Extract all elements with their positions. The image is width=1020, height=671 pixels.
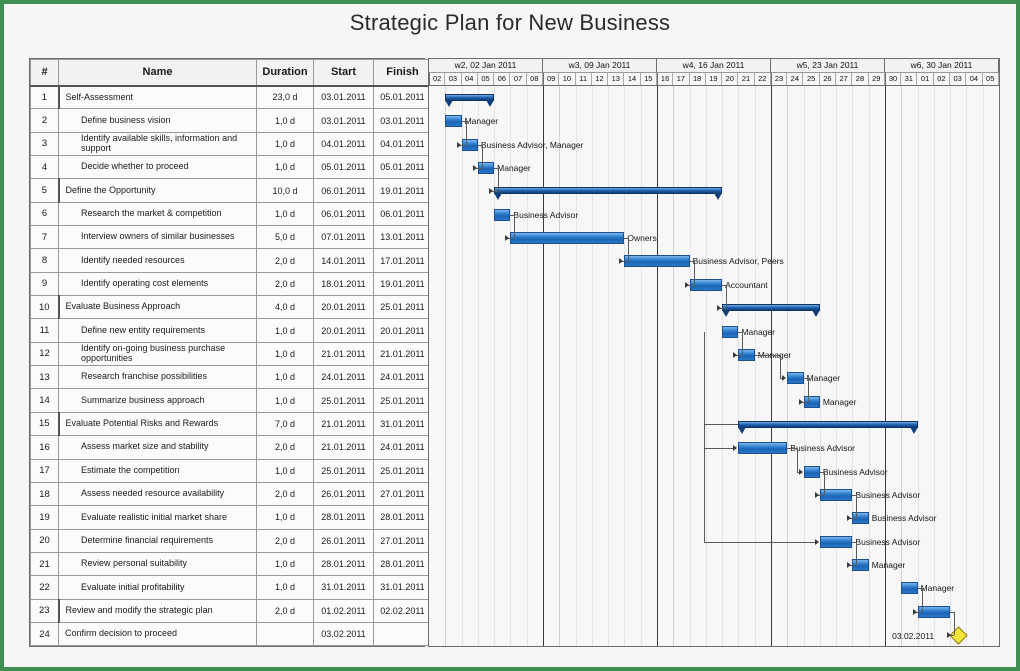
gantt-plot-area[interactable]: ManagerBusiness Advisor, ManagerManagerB…	[429, 86, 999, 646]
day-header-cell: 16	[657, 73, 673, 85]
table-row[interactable]: 18Assess needed resource availability2,0…	[31, 482, 432, 505]
cell-finish: 24.01.2011	[374, 366, 432, 389]
cell-finish: 24.01.2011	[374, 436, 432, 459]
cell-task-name: Evaluate Business Approach	[59, 296, 257, 319]
cell-start: 21.01.2011	[314, 412, 374, 435]
cell-row-number: 4	[31, 156, 59, 179]
cell-duration: 2,0 d	[257, 272, 314, 295]
day-gridline	[641, 86, 642, 646]
table-row[interactable]: 4Decide whether to proceed1,0 d05.01.201…	[31, 156, 432, 179]
cell-start: 26.01.2011	[314, 529, 374, 552]
day-header-cell: 04	[966, 73, 982, 85]
dependency-link	[808, 378, 809, 401]
table-header-row: # Name Duration Start Finish	[31, 60, 432, 86]
cell-finish: 17.01.2011	[374, 249, 432, 272]
dependency-link	[704, 332, 705, 424]
week-header-cell: w2, 02 Jan 2011	[429, 59, 543, 73]
cell-start: 25.01.2011	[314, 389, 374, 412]
cell-row-number: 6	[31, 202, 59, 225]
resource-label: Owners	[627, 233, 656, 244]
cell-start: 28.01.2011	[314, 506, 374, 529]
week-gridline	[543, 86, 544, 646]
table-row[interactable]: 23Review and modify the strategic plan2,…	[31, 599, 432, 622]
table-row[interactable]: 3Identify available skills, information …	[31, 132, 432, 155]
dependency-link	[787, 448, 796, 449]
cell-task-name: Estimate the competition	[59, 459, 257, 482]
cell-row-number: 7	[31, 226, 59, 249]
cell-task-name: Research franchise possibilities	[59, 366, 257, 389]
dependency-arrow	[473, 165, 477, 171]
table-row[interactable]: 1Self-Assessment23,0 d03.01.201105.01.20…	[31, 86, 432, 109]
table-row[interactable]: 19Evaluate realistic initial market shar…	[31, 506, 432, 529]
cell-row-number: 2	[31, 109, 59, 132]
task-bar[interactable]	[510, 232, 624, 244]
cell-row-number: 1	[31, 86, 59, 109]
week-header-cell: w5, 23 Jan 2011	[771, 59, 885, 73]
dependency-arrow	[717, 305, 721, 311]
dependency-arrow	[489, 188, 493, 194]
resource-label: Manager	[497, 163, 531, 174]
table-row[interactable]: 5Define the Opportunity10,0 d06.01.20111…	[31, 179, 432, 202]
day-header-cell: 29	[869, 73, 885, 85]
cell-row-number: 13	[31, 366, 59, 389]
day-gridline	[462, 86, 463, 646]
dependency-arrow	[733, 445, 737, 451]
dependency-arrow	[815, 492, 819, 498]
resource-label: Manager	[741, 327, 775, 338]
page-title: Strategic Plan for New Business	[4, 10, 1016, 36]
resource-label: Business Advisor	[855, 537, 920, 548]
cell-task-name: Define new entity requirements	[59, 319, 257, 342]
dependency-link	[856, 542, 857, 565]
cell-task-name: Interview owners of similar businesses	[59, 226, 257, 249]
cell-task-name: Review and modify the strategic plan	[59, 599, 257, 622]
cell-duration: 4,0 d	[257, 296, 314, 319]
day-gridline	[592, 86, 593, 646]
cell-duration: 2,0 d	[257, 482, 314, 505]
cell-row-number: 16	[31, 436, 59, 459]
day-header-cell: 05	[983, 73, 999, 85]
cell-finish: 31.01.2011	[374, 412, 432, 435]
day-header-cell: 03	[950, 73, 966, 85]
task-bar[interactable]	[787, 372, 803, 384]
cell-row-number: 22	[31, 576, 59, 599]
cell-row-number: 3	[31, 132, 59, 155]
cell-task-name: Identify on-going business purchase oppo…	[59, 342, 257, 365]
dependency-link	[797, 448, 798, 471]
cell-start: 14.01.2011	[314, 249, 374, 272]
table-row[interactable]: 22Evaluate initial profitability1,0 d31.…	[31, 576, 432, 599]
dependency-link	[824, 472, 825, 495]
resource-label: Business Advisor	[790, 443, 855, 454]
cell-duration: 1,0 d	[257, 366, 314, 389]
day-header-cell: 05	[478, 73, 494, 85]
table-row[interactable]: 2Define business vision1,0 d03.01.201103…	[31, 109, 432, 132]
dependency-link	[922, 588, 923, 611]
cell-duration: 1,0 d	[257, 576, 314, 599]
cell-finish: 19.01.2011	[374, 272, 432, 295]
dependency-link	[466, 121, 467, 144]
cell-duration: 2,0 d	[257, 529, 314, 552]
resource-label: Manager	[921, 583, 955, 594]
cell-start: 28.01.2011	[314, 552, 374, 575]
column-header-number[interactable]: #	[31, 60, 59, 86]
dependency-arrow	[685, 282, 689, 288]
cell-start: 31.01.2011	[314, 576, 374, 599]
day-header-cell: 24	[787, 73, 803, 85]
day-gridline	[918, 86, 919, 646]
cell-task-name: Evaluate Potential Risks and Rewards	[59, 412, 257, 435]
dependency-arrow	[847, 562, 851, 568]
summary-bar[interactable]	[445, 94, 494, 101]
cell-finish: 04.01.2011	[374, 132, 432, 155]
cell-task-name: Evaluate realistic initial market share	[59, 506, 257, 529]
cell-duration: 1,0 d	[257, 506, 314, 529]
cell-start: 18.01.2011	[314, 272, 374, 295]
cell-row-number: 20	[31, 529, 59, 552]
day-gridline	[787, 86, 788, 646]
cell-duration: 5,0 d	[257, 226, 314, 249]
day-gridline	[559, 86, 560, 646]
day-header-cell: 25	[803, 73, 819, 85]
dependency-link	[704, 542, 817, 543]
timeline-week-header: w2, 02 Jan 2011w3, 09 Jan 2011w4, 16 Jan…	[429, 59, 999, 73]
task-bar[interactable]	[494, 209, 510, 221]
resource-label: Business Advisor	[513, 210, 578, 221]
task-bar[interactable]	[901, 582, 917, 594]
cell-start: 06.01.2011	[314, 202, 374, 225]
cell-finish	[374, 622, 432, 645]
week-header-cell: w3, 09 Jan 2011	[543, 59, 657, 73]
cell-finish: 28.01.2011	[374, 506, 432, 529]
day-header-cell: 07	[510, 73, 526, 85]
cell-task-name: Assess needed resource availability	[59, 482, 257, 505]
dependency-link	[704, 448, 705, 541]
day-header-cell: 02	[429, 73, 445, 85]
cell-start: 05.01.2011	[314, 156, 374, 179]
dependency-link	[704, 448, 735, 449]
dependency-link	[755, 355, 781, 356]
task-bar[interactable]	[820, 536, 853, 548]
day-header-cell: 30	[885, 73, 901, 85]
dependency-link	[482, 145, 483, 168]
cell-task-name: Define business vision	[59, 109, 257, 132]
table-row[interactable]: 20Determine financial requirements2,0 d2…	[31, 529, 432, 552]
cell-finish: 05.01.2011	[374, 156, 432, 179]
table-row[interactable]: 21Review personal suitability1,0 d28.01.…	[31, 552, 432, 575]
dependency-link	[954, 612, 955, 635]
dependency-arrow	[913, 609, 917, 615]
day-header-cell: 18	[690, 73, 706, 85]
dependency-link	[704, 424, 738, 425]
table-row[interactable]: 6Research the market & competition1,0 d0…	[31, 202, 432, 225]
cell-task-name: Assess market size and stability	[59, 436, 257, 459]
day-gridline	[706, 86, 707, 646]
cell-row-number: 9	[31, 272, 59, 295]
table-row[interactable]: 16Assess market size and stability2,0 d2…	[31, 436, 432, 459]
cell-row-number: 5	[31, 179, 59, 202]
dependency-link	[780, 355, 781, 378]
cell-start: 04.01.2011	[314, 132, 374, 155]
resource-label: Manager	[465, 116, 499, 127]
day-header-cell: 28	[852, 73, 868, 85]
cell-task-name: Identify available skills, information a…	[59, 132, 257, 155]
cell-task-name: Identify needed resources	[59, 249, 257, 272]
cell-finish: 28.01.2011	[374, 552, 432, 575]
dependency-arrow	[847, 515, 851, 521]
cell-duration: 1,0 d	[257, 202, 314, 225]
page-canvas: Strategic Plan for New Business # Name D…	[4, 4, 1016, 667]
dependency-arrow	[947, 632, 951, 638]
cell-duration: 7,0 d	[257, 412, 314, 435]
day-header-cell: 04	[462, 73, 478, 85]
resource-label: Business Advisor	[823, 467, 888, 478]
day-header-cell: 26	[820, 73, 836, 85]
cell-duration: 1,0 d	[257, 552, 314, 575]
day-header-cell: 23	[771, 73, 787, 85]
dependency-arrow	[619, 258, 623, 264]
day-gridline	[950, 86, 951, 646]
table-row[interactable]: 8Identify needed resources2,0 d14.01.201…	[31, 249, 432, 272]
cell-start: 03.01.2011	[314, 109, 374, 132]
cell-start: 20.01.2011	[314, 319, 374, 342]
cell-start: 25.01.2011	[314, 459, 374, 482]
cell-duration: 23,0 d	[257, 86, 314, 109]
dependency-arrow	[457, 142, 461, 148]
day-gridline	[820, 86, 821, 646]
day-header-cell: 21	[738, 73, 754, 85]
task-bar[interactable]	[722, 326, 738, 338]
day-gridline	[494, 86, 495, 646]
cell-finish: 31.01.2011	[374, 576, 432, 599]
cell-duration: 1,0 d	[257, 389, 314, 412]
task-bar[interactable]	[624, 255, 689, 267]
column-header-finish[interactable]: Finish	[374, 60, 432, 86]
cell-start: 07.01.2011	[314, 226, 374, 249]
cell-row-number: 8	[31, 249, 59, 272]
cell-task-name: Research the market & competition	[59, 202, 257, 225]
day-header-cell: 03	[445, 73, 461, 85]
week-header-cell: w6, 30 Jan 2011	[885, 59, 999, 73]
cell-row-number: 21	[31, 552, 59, 575]
day-header-cell: 06	[494, 73, 510, 85]
day-header-cell: 27	[836, 73, 852, 85]
day-gridline	[738, 86, 739, 646]
day-gridline	[445, 86, 446, 646]
dependency-arrow	[505, 235, 509, 241]
cell-row-number: 18	[31, 482, 59, 505]
cell-finish: 02.02.2011	[374, 599, 432, 622]
task-table-header: # Name Duration Start Finish	[31, 60, 432, 86]
cell-start: 06.01.2011	[314, 179, 374, 202]
day-header-cell: 17	[673, 73, 689, 85]
cell-task-name: Evaluate initial profitability	[59, 576, 257, 599]
table-row[interactable]: 13Research franchise possibilities1,0 d2…	[31, 366, 432, 389]
cell-duration: 2,0 d	[257, 249, 314, 272]
cell-finish: 05.01.2011	[374, 86, 432, 109]
cell-start: 21.01.2011	[314, 436, 374, 459]
dependency-arrow	[733, 352, 737, 358]
dependency-link	[514, 215, 515, 238]
day-header-cell: 15	[641, 73, 657, 85]
cell-start: 21.01.2011	[314, 342, 374, 365]
table-row[interactable]: 10Evaluate Business Approach4,0 d20.01.2…	[31, 296, 432, 319]
task-table: # Name Duration Start Finish 1Self-Asses…	[30, 59, 432, 646]
cell-duration: 1,0 d	[257, 319, 314, 342]
day-gridline	[624, 86, 625, 646]
day-gridline	[836, 86, 837, 646]
cell-duration: 1,0 d	[257, 342, 314, 365]
task-table-container: # Name Duration Start Finish 1Self-Asses…	[29, 58, 425, 647]
cell-duration: 2,0 d	[257, 599, 314, 622]
column-header-start[interactable]: Start	[314, 60, 374, 86]
milestone-date-label: 03.02.2011	[892, 631, 934, 641]
table-row[interactable]: 15Evaluate Potential Risks and Rewards7,…	[31, 412, 432, 435]
day-gridline	[966, 86, 967, 646]
cell-row-number: 14	[31, 389, 59, 412]
day-header-cell: 11	[576, 73, 592, 85]
cell-finish: 03.01.2011	[374, 109, 432, 132]
cell-finish: 13.01.2011	[374, 226, 432, 249]
day-header-cell: 10	[559, 73, 575, 85]
day-header-cell: 19	[706, 73, 722, 85]
cell-row-number: 17	[31, 459, 59, 482]
day-gridline	[673, 86, 674, 646]
cell-task-name: Self-Assessment	[59, 86, 257, 109]
cell-duration	[257, 622, 314, 645]
cell-row-number: 23	[31, 599, 59, 622]
resource-label: Manager	[872, 560, 906, 571]
day-gridline	[690, 86, 691, 646]
cell-start: 01.02.2011	[314, 599, 374, 622]
task-table-body: 1Self-Assessment23,0 d03.01.201105.01.20…	[31, 86, 432, 646]
table-row[interactable]: 12Identify on-going business purchase op…	[31, 342, 432, 365]
cell-task-name: Determine financial requirements	[59, 529, 257, 552]
task-bar[interactable]	[804, 466, 820, 478]
cell-finish: 20.01.2011	[374, 319, 432, 342]
column-header-duration[interactable]: Duration	[257, 60, 314, 86]
timeline-day-header: 0203040506070809101112131415161718192021…	[429, 73, 999, 86]
day-header-cell: 31	[901, 73, 917, 85]
cell-start: 24.01.2011	[314, 366, 374, 389]
table-row[interactable]: 24Confirm decision to proceed03.02.2011	[31, 622, 432, 645]
dependency-link	[498, 168, 499, 191]
cell-start: 20.01.2011	[314, 296, 374, 319]
gantt-chart-page: Strategic Plan for New Business # Name D…	[0, 0, 1020, 671]
cell-task-name: Identify operating cost elements	[59, 272, 257, 295]
day-header-cell: 08	[527, 73, 543, 85]
day-gridline	[869, 86, 870, 646]
cell-row-number: 12	[31, 342, 59, 365]
cell-duration: 1,0 d	[257, 156, 314, 179]
cell-row-number: 24	[31, 622, 59, 645]
dependency-link	[726, 285, 727, 308]
cell-start: 26.01.2011	[314, 482, 374, 505]
column-header-name[interactable]: Name	[59, 60, 257, 86]
day-header-cell: 09	[543, 73, 559, 85]
cell-task-name: Define the Opportunity	[59, 179, 257, 202]
dependency-arrow	[799, 399, 803, 405]
cell-row-number: 15	[31, 412, 59, 435]
cell-finish: 21.01.2011	[374, 342, 432, 365]
cell-task-name: Confirm decision to proceed	[59, 622, 257, 645]
day-header-cell: 22	[755, 73, 771, 85]
cell-finish: 27.01.2011	[374, 529, 432, 552]
day-gridline	[722, 86, 723, 646]
dependency-link	[694, 261, 695, 284]
day-header-cell: 13	[608, 73, 624, 85]
table-row[interactable]: 7Interview owners of similar businesses5…	[31, 226, 432, 249]
gantt-timeline[interactable]: w2, 02 Jan 2011w3, 09 Jan 2011w4, 16 Jan…	[428, 58, 1000, 647]
cell-duration: 1,0 d	[257, 459, 314, 482]
day-header-cell: 20	[722, 73, 738, 85]
task-bar[interactable]	[738, 442, 787, 454]
dependency-arrow	[815, 539, 819, 545]
cell-duration: 1,0 d	[257, 132, 314, 155]
task-bar[interactable]	[445, 115, 461, 127]
summary-bar[interactable]	[738, 421, 917, 428]
week-gridline	[657, 86, 658, 646]
cell-task-name: Decide whether to proceed	[59, 156, 257, 179]
day-gridline	[934, 86, 935, 646]
cell-task-name: Review personal suitability	[59, 552, 257, 575]
cell-finish: 06.01.2011	[374, 202, 432, 225]
resource-label: Manager	[823, 397, 857, 408]
day-gridline	[755, 86, 756, 646]
day-header-cell: 14	[624, 73, 640, 85]
resource-label: Accountant	[725, 280, 768, 291]
cell-duration: 1,0 d	[257, 109, 314, 132]
cell-finish: 25.01.2011	[374, 459, 432, 482]
day-gridline	[804, 86, 805, 646]
cell-duration: 2,0 d	[257, 436, 314, 459]
day-gridline	[983, 86, 984, 646]
day-header-cell: 12	[592, 73, 608, 85]
cell-finish: 25.01.2011	[374, 389, 432, 412]
table-row[interactable]: 11Define new entity requirements1,0 d20.…	[31, 319, 432, 342]
resource-label: Business Advisor, Manager	[481, 140, 584, 151]
cell-row-number: 10	[31, 296, 59, 319]
cell-finish: 27.01.2011	[374, 482, 432, 505]
cell-duration: 10,0 d	[257, 179, 314, 202]
dependency-link	[856, 495, 857, 518]
summary-bar[interactable]	[722, 304, 820, 311]
dependency-arrow	[782, 375, 786, 381]
dependency-arrow	[799, 469, 803, 475]
table-row[interactable]: 14Summarize business approach1,0 d25.01.…	[31, 389, 432, 412]
cell-start: 03.02.2011	[314, 622, 374, 645]
resource-label: Business Advisor, Peers	[693, 256, 784, 267]
week-gridline	[771, 86, 772, 646]
cell-row-number: 11	[31, 319, 59, 342]
cell-finish: 19.01.2011	[374, 179, 432, 202]
day-header-cell: 02	[934, 73, 950, 85]
resource-label: Business Advisor	[872, 513, 937, 524]
cell-start: 03.01.2011	[314, 86, 374, 109]
table-row[interactable]: 17Estimate the competition1,0 d25.01.201…	[31, 459, 432, 482]
cell-row-number: 19	[31, 506, 59, 529]
day-gridline	[608, 86, 609, 646]
summary-bar[interactable]	[494, 187, 722, 194]
cell-finish: 25.01.2011	[374, 296, 432, 319]
dependency-link	[628, 238, 629, 261]
cell-task-name: Summarize business approach	[59, 389, 257, 412]
dependency-link	[742, 332, 743, 355]
table-row[interactable]: 9Identify operating cost elements2,0 d18…	[31, 272, 432, 295]
day-gridline	[576, 86, 577, 646]
resource-label: Manager	[807, 373, 841, 384]
week-header-cell: w4, 16 Jan 2011	[657, 59, 771, 73]
